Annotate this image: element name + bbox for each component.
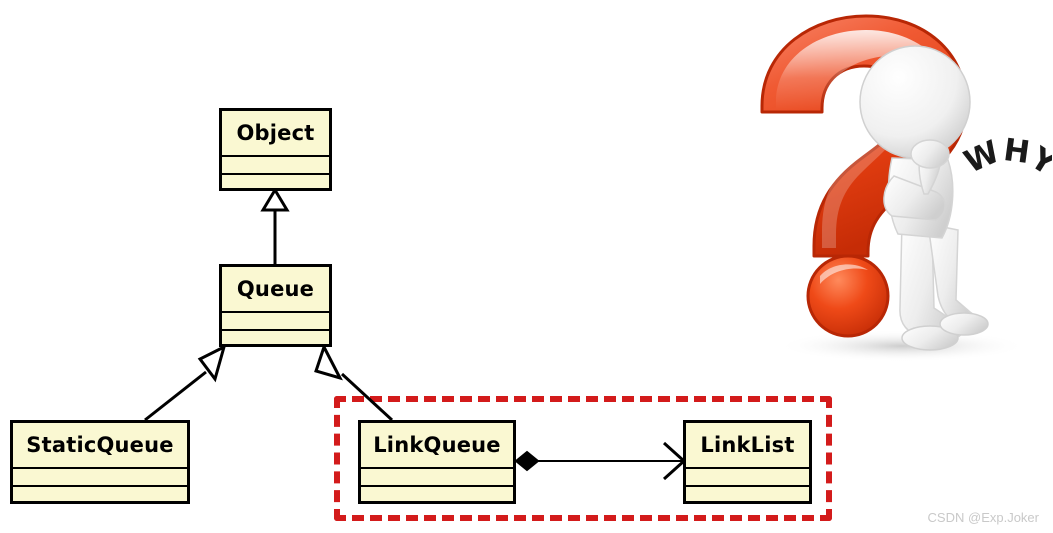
- generalization-staticqueue-to-queue: [145, 347, 224, 420]
- figure-head: [860, 46, 970, 158]
- generalization-queue-to-object: [263, 190, 287, 264]
- class-name-queue: Queue: [222, 267, 329, 311]
- class-box-staticqueue[interactable]: StaticQueue: [10, 420, 190, 504]
- ground-shadow: [777, 330, 1027, 362]
- diagram-canvas: Object Queue StaticQueue LinkQueue LinkL…: [0, 0, 1053, 533]
- class-name-linkqueue: LinkQueue: [361, 423, 513, 467]
- class-attributes-linklist: [686, 467, 809, 485]
- class-box-object[interactable]: Object: [219, 108, 332, 191]
- class-name-linklist: LinkList: [686, 423, 809, 467]
- class-box-linkqueue[interactable]: LinkQueue: [358, 420, 516, 504]
- class-name-object: Object: [222, 111, 329, 155]
- class-attributes-queue: [222, 311, 329, 329]
- class-operations-object: [222, 173, 329, 188]
- class-attributes-linkqueue: [361, 467, 513, 485]
- class-attributes-object: [222, 155, 329, 173]
- class-operations-staticqueue: [13, 485, 187, 501]
- class-operations-linkqueue: [361, 485, 513, 501]
- class-operations-linklist: [686, 485, 809, 501]
- watermark: CSDN @Exp.Joker: [928, 510, 1039, 525]
- question-mark-illustration: WHY?: [752, 8, 1052, 368]
- class-box-queue[interactable]: Queue: [219, 264, 332, 347]
- class-box-linklist[interactable]: LinkList: [683, 420, 812, 504]
- class-name-staticqueue: StaticQueue: [13, 423, 187, 467]
- class-attributes-staticqueue: [13, 467, 187, 485]
- class-operations-queue: [222, 329, 329, 344]
